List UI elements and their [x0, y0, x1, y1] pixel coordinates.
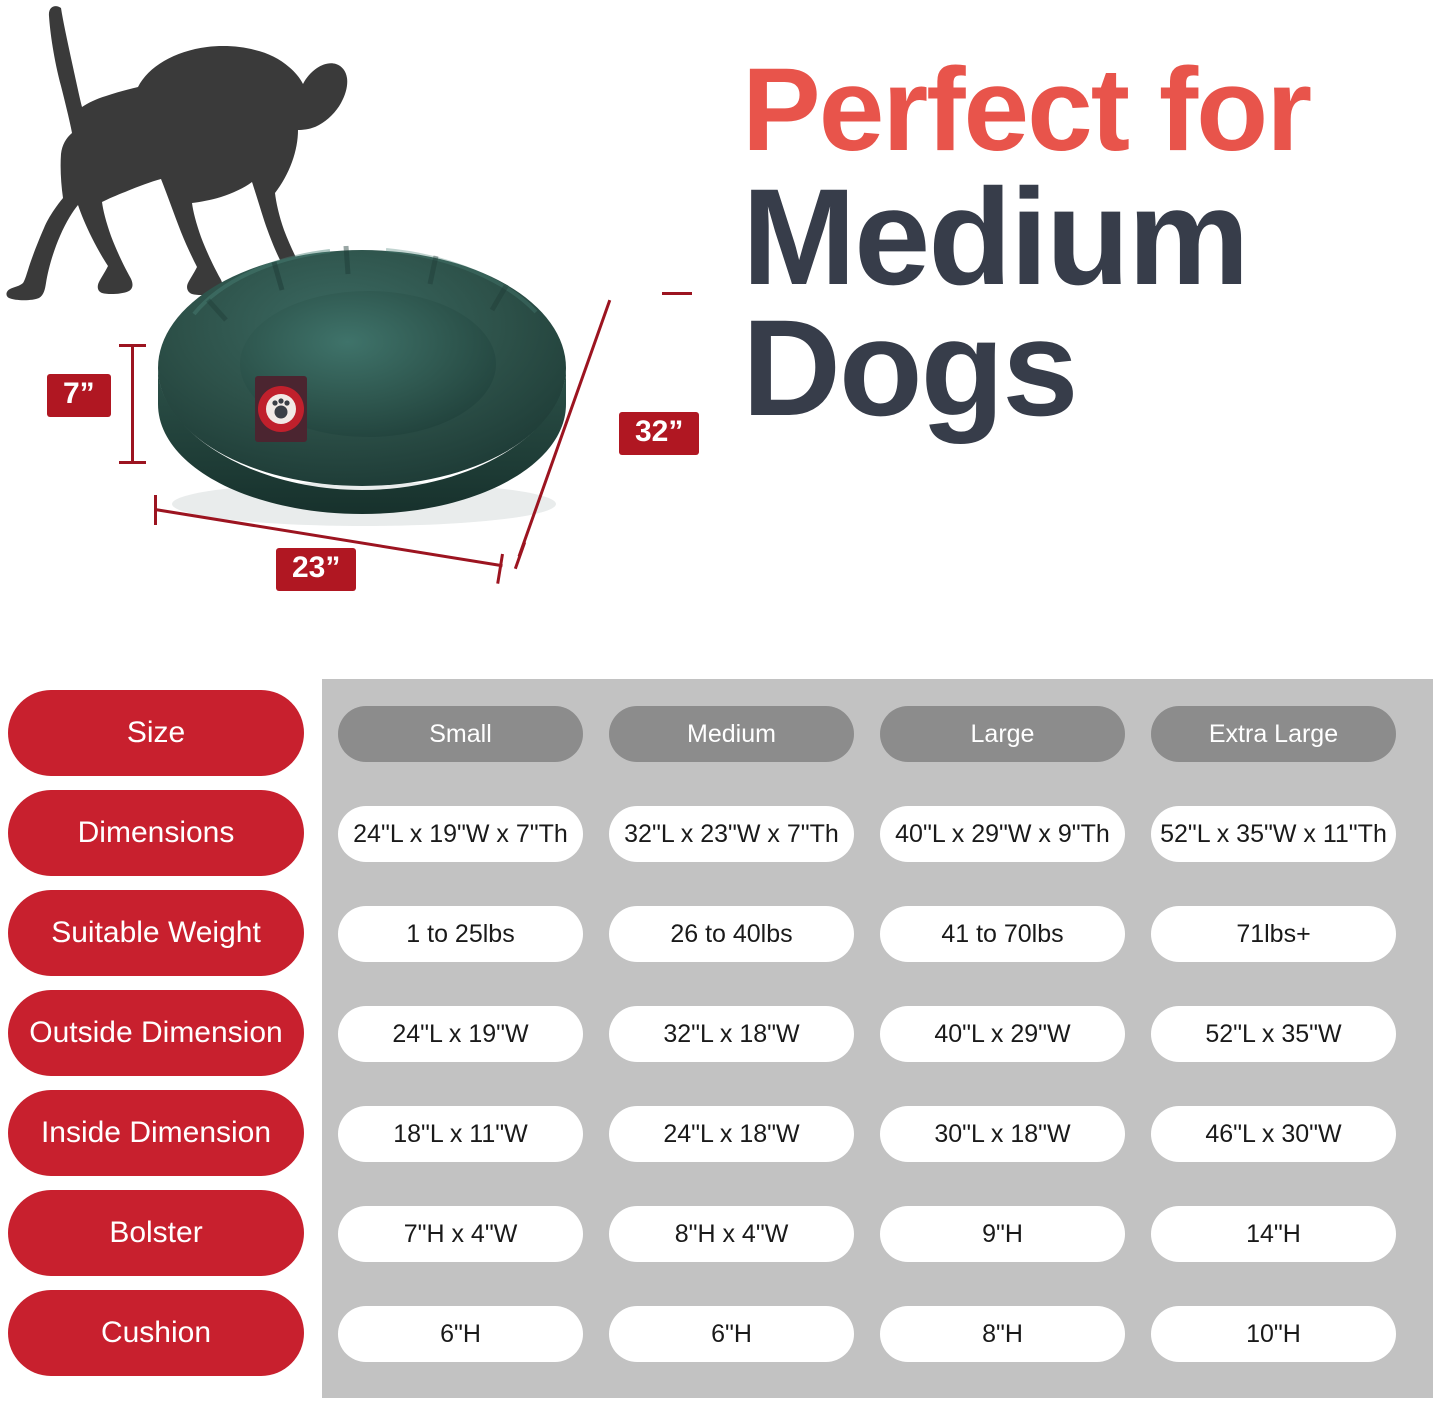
row-label-size: Size [8, 690, 304, 776]
cell-weight-extra-large: 71lbs+ [1151, 906, 1396, 962]
spec-row-dimensions: 24"L x 19"W x 7"Th 32"L x 23"W x 7"Th 40… [338, 806, 1422, 862]
cell-outside-extra-large: 52"L x 35"W [1151, 1006, 1396, 1062]
callout-length: 32” [619, 412, 699, 455]
length-measure-cap-top [662, 292, 692, 295]
column-header-small: Small [338, 706, 583, 762]
brand-tag [255, 376, 307, 442]
hero-section: 7” 23” 32” Perfect for Medium Dogs [0, 0, 1445, 660]
cell-weight-small: 1 to 25lbs [338, 906, 583, 962]
cell-cushion-small: 6"H [338, 1306, 583, 1362]
height-measure-line [131, 344, 134, 464]
cell-outside-small: 24"L x 19"W [338, 1006, 583, 1062]
cell-weight-large: 41 to 70lbs [880, 906, 1125, 962]
row-label-bolster: Bolster [8, 1190, 304, 1276]
cell-bolster-medium: 8"H x 4"W [609, 1206, 854, 1262]
callout-width: 23” [276, 548, 356, 591]
headline-block: Perfect for Medium Dogs [742, 56, 1442, 433]
row-label-inside-dimension: Inside Dimension [8, 1090, 304, 1176]
width-measure-cap-left [154, 495, 157, 525]
row-label-outside-dimension: Outside Dimension [8, 990, 304, 1076]
cell-weight-medium: 26 to 40lbs [609, 906, 854, 962]
cell-dimensions-medium: 32"L x 23"W x 7"Th [609, 806, 854, 862]
spec-row-label-column: Size Dimensions Suitable Weight Outside … [8, 690, 304, 1390]
height-measure-cap-bottom [119, 461, 146, 464]
width-measure-cap-right [496, 554, 504, 584]
spec-row-bolster: 7"H x 4"W 8"H x 4"W 9"H 14"H [338, 1206, 1422, 1262]
row-label-dimensions: Dimensions [8, 790, 304, 876]
spec-row-outside-dimension: 24"L x 19"W 32"L x 18"W 40"L x 29"W 52"L… [338, 1006, 1422, 1062]
cell-inside-large: 30"L x 18"W [880, 1106, 1125, 1162]
cell-inside-small: 18"L x 11"W [338, 1106, 583, 1162]
cell-dimensions-small: 24"L x 19"W x 7"Th [338, 806, 583, 862]
cell-outside-medium: 32"L x 18"W [609, 1006, 854, 1062]
row-label-suitable-weight: Suitable Weight [8, 890, 304, 976]
cell-inside-extra-large: 46"L x 30"W [1151, 1106, 1396, 1162]
spec-row-suitable-weight: 1 to 25lbs 26 to 40lbs 41 to 70lbs 71lbs… [338, 906, 1422, 962]
cell-bolster-large: 9"H [880, 1206, 1125, 1262]
column-header-extra-large: Extra Large [1151, 706, 1396, 762]
spec-value-grid: Small Medium Large Extra Large 24"L x 19… [338, 706, 1422, 1406]
cell-cushion-large: 8"H [880, 1306, 1125, 1362]
spec-row-inside-dimension: 18"L x 11"W 24"L x 18"W 30"L x 18"W 46"L… [338, 1106, 1422, 1162]
headline-line-1: Perfect for [742, 56, 1442, 166]
headline-line-3: Dogs [742, 305, 1442, 432]
column-header-medium: Medium [609, 706, 854, 762]
height-measure-cap-top [119, 344, 146, 347]
cell-outside-large: 40"L x 29"W [880, 1006, 1125, 1062]
callout-height: 7” [47, 374, 111, 417]
cell-bolster-extra-large: 14"H [1151, 1206, 1396, 1262]
cell-inside-medium: 24"L x 18"W [609, 1106, 854, 1162]
row-label-cushion: Cushion [8, 1290, 304, 1376]
cell-dimensions-large: 40"L x 29"W x 9"Th [880, 806, 1125, 862]
cell-dimensions-extra-large: 52"L x 35"W x 11"Th [1151, 806, 1396, 862]
headline-line-2: Medium [742, 174, 1442, 301]
column-header-large: Large [880, 706, 1125, 762]
cell-cushion-medium: 6"H [609, 1306, 854, 1362]
cell-cushion-extra-large: 10"H [1151, 1306, 1396, 1362]
product-photo-dog-bed [150, 218, 574, 536]
spec-row-cushion: 6"H 6"H 8"H 10"H [338, 1306, 1422, 1362]
spec-header-row: Small Medium Large Extra Large [338, 706, 1422, 762]
cell-bolster-small: 7"H x 4"W [338, 1206, 583, 1262]
